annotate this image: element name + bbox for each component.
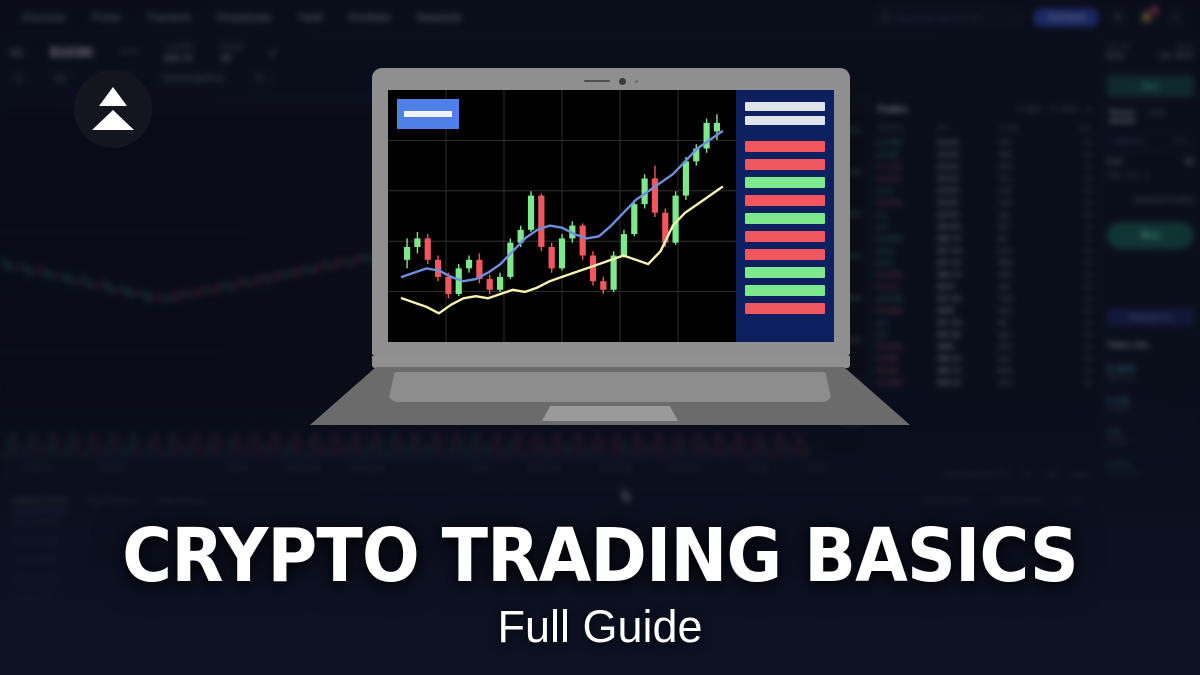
main-title: CRYPTO TRADING BASICS [48,520,1152,593]
trade-age: 2s [1050,306,1092,315]
orderbook-row-buy[interactable] [745,213,825,224]
youtube-thumbnail: Discover Pulse Trackers Perpetuals Yield… [0,0,1200,675]
instant-trade-toggle[interactable]: Instant Trade [923,496,970,505]
trade-trader: 3BG [998,258,1049,267]
orderbook-row-sell[interactable] [745,159,825,170]
sliders-icon[interactable]: ⇌ [1085,105,1092,114]
stat-liquidity: Liquidity$39.7K [164,42,193,63]
trade-trader: j9c [998,234,1049,243]
stat-supply-key: Supply [220,42,244,51]
trades-filter-you[interactable]: ⚇YOU [1050,105,1078,114]
stat-price: Price [120,47,138,58]
buys-value: 146 / $57K [1158,51,1194,60]
token-stat-top10-label: Top 10 H [1107,375,1194,382]
trades-table-toggle[interactable]: Trades Table [995,496,1041,505]
advanced-trading-toggle[interactable]: Advanced Trading [1107,195,1194,204]
token-stat-lp-label: LP Burned [1107,471,1194,478]
trade-mc: $55K [938,306,999,315]
token-symbol: MC [10,48,24,58]
trade-age: 0s [1050,138,1092,147]
speaker-slot-icon [584,80,610,82]
trade-age: 2s [1050,270,1092,279]
trade-trader: C51 [998,198,1049,207]
stat-liquidity-value: $39.7K [164,53,193,63]
app-top-nav: Discover Pulse Trackers Perpetuals Yield… [0,0,1200,36]
trade-age: 0s [1050,150,1092,159]
trade-trader: u55 [998,270,1049,279]
token-stat-snipers-label: Snipers [1107,439,1194,446]
submit-buy-button[interactable]: Buy [1107,222,1194,249]
trade-trader: c6V [998,138,1049,147]
chart-timestamp: 14:57:05 (UTC-5) [944,470,1006,479]
trade-age: 0s [1050,186,1092,195]
chip-ds[interactable]: DS [46,71,73,86]
trade-mc: $52.5K [938,330,999,339]
vol-label: 5m Vol [1107,42,1130,51]
trade-trader: hp4 [998,330,1049,339]
search-icon [881,13,890,22]
presets-button[interactable]: PRESETS [1107,309,1194,326]
orderbook-row-sell[interactable] [745,249,825,260]
token-stat-insiders-label: Insiders [1107,407,1194,414]
trade-mc: $102K [938,210,999,219]
sub-title: Full Guide [0,601,1200,653]
star-icon[interactable]: ★ [1108,8,1128,28]
order-type-limit[interactable]: Limit [1147,107,1165,122]
trade-age: 0s [1050,210,1092,219]
tab-top-traders[interactable]: Top Traders [89,496,137,513]
pyramid-icon [84,85,142,133]
trade-age: 2s [1050,258,1092,267]
trade-age: 1s [1050,318,1092,327]
mouse-cursor-icon [622,488,635,506]
orderbook-row-sell[interactable] [745,231,825,242]
vol-value: $16K [1107,51,1125,60]
search-placeholder: Search by token or CA... [895,13,1009,23]
trade-age: 3s [1050,342,1092,351]
laptop-keyboard [388,372,832,402]
trade-mc: $66.7K [938,270,999,279]
trade-mc: $27.2K [938,258,999,267]
trades-filter-dev-label: DEV [1025,105,1041,114]
trade-trader: D42 [998,306,1049,315]
trade-trader: aL8 [998,246,1049,255]
bell-icon[interactable]: 🔔 4 [1137,8,1157,28]
preset-percent-20[interactable]: 20% [1107,173,1121,181]
trade-mc: $68.7K [938,366,999,375]
orderbook-header-bar [745,116,825,125]
trade-mc: $68.3K [938,378,999,387]
trade-mc: $68.2K [938,354,999,363]
token-stat-lp-value: 0.0% [1107,460,1194,471]
orderbook-row-sell[interactable] [745,303,825,314]
token-stat-insiders: 0.0%Insiders [1107,396,1194,414]
trade-mc: $27.4K [938,294,999,303]
amount-unit: SOL [1173,137,1188,146]
trade-trader: U52 [998,162,1049,171]
trade-age: 1s [1050,294,1092,303]
pyramid-logo [74,70,152,148]
trade-age: 3s [1050,354,1092,363]
currency-toggle[interactable]: USD [1067,496,1084,505]
laptop-lid [372,68,850,356]
orderbook-row-buy[interactable] [745,177,825,188]
nav-item-pulse[interactable]: Pulse [92,12,121,24]
orderbook-panel [736,90,834,342]
trade-mc: $102K [938,198,999,207]
notification-badge: 4 [1150,6,1159,15]
token-price: $103K [50,44,94,61]
trade-trader: 4BE [998,150,1049,159]
trade-trader: z9o [998,282,1049,291]
trade-mc: $27.3K [938,318,999,327]
nav-links: Discover Pulse Trackers Perpetuals Yield… [22,12,462,24]
trade-trader: eC8 [998,378,1049,387]
amount-value: 0.01 [1107,157,1123,166]
search-shortcut: / [1014,13,1017,23]
amount-input[interactable]: AMOUNT SOL [1107,132,1194,151]
trade-trader: kv4 [998,354,1049,363]
camera-led-icon [635,80,638,83]
trade-mc: $102K [938,138,999,147]
user-icon: ⚇ [1050,105,1057,114]
col-age[interactable]: Age [1050,123,1092,132]
stat-supply-value: 1B [220,53,244,63]
trades-filter-you-label: YOU [1060,105,1077,114]
percent-toggle[interactable]: % [1023,470,1030,479]
orderbook-row-buy[interactable] [745,267,825,278]
trade-trader: 9j1 [998,318,1049,327]
trade-mc: $66K [938,342,999,351]
col-trader[interactable]: Trader [998,123,1049,132]
tab-holders[interactable]: Holders (376) [12,496,67,513]
laptop-trackpad [542,406,678,421]
nav-item-perpetuals[interactable]: Perpetuals [217,12,272,24]
nav-item-discover[interactable]: Discover [22,12,66,24]
laptop-illustration [310,60,910,430]
trade-age: 1s [1050,222,1092,231]
order-type-market[interactable]: Market [1109,107,1135,122]
trade-trader: CuF [998,186,1049,195]
laptop-bezel [372,77,850,85]
trade-mc: $67K [938,282,999,291]
trade-mc: $102K [938,150,999,159]
trade-mc: $66.7K [938,234,999,243]
nav-item-yield[interactable]: Yield [298,12,323,24]
trades-filter-dev[interactable]: ▽DEV [1016,105,1042,114]
trade-age: 3s [1050,330,1092,339]
laptop-hinge [372,356,850,368]
trade-age: 1s [1050,234,1092,243]
nav-item-trackers[interactable]: Trackers [147,12,191,24]
volume-row: 5m Vol Buys [1107,42,1194,51]
refresh-icon[interactable]: ⟳ [1145,173,1151,181]
nav-right-cluster: Search by token or CA... / Connect ★ 🔔 4… [874,7,1186,28]
wallet-icon[interactable]: ▭ [1166,8,1186,28]
chip-timeframe[interactable]: 1s [6,71,30,86]
trade-mc: $64.6K [938,222,999,231]
nav-item-portfolio[interactable]: Portfolio [349,12,391,24]
trade-age: 0s [1050,174,1092,183]
trade-trader: Sc7 [998,222,1049,231]
stat-price-key: Price [120,47,138,56]
chip-mcap-price[interactable]: MarketCap/Price [156,71,232,86]
camera-icon [619,78,626,85]
token-stat-insiders-value: 0.0% [1107,396,1194,407]
trade-trader: T1y [998,174,1049,183]
trade-mc: $102K [938,186,999,195]
trade-age: 3s [1050,378,1092,387]
laptop-screen [388,90,834,342]
trade-mc: $101K [938,174,999,183]
trade-age: 3s [1050,366,1092,375]
stat-liquidity-key: Liquidity [164,42,193,51]
auto-toggle[interactable]: auto [1072,470,1088,479]
chart-label-badge [397,99,459,129]
orderbook-row-sell[interactable] [745,141,825,152]
orderbook-row-buy[interactable] [745,285,825,296]
log-toggle[interactable]: log [1046,470,1057,479]
trade-trader: uPY [998,342,1049,351]
trading-chart [388,90,736,342]
trade-mc: $101K [938,162,999,171]
trade-trader: BeS [998,366,1049,375]
trade-age: 1s [1050,162,1092,171]
title-block: CRYPTO TRADING BASICS Full Guide [0,520,1200,653]
trade-age: 2s [1050,246,1092,255]
amount-label: AMOUNT [1113,137,1146,146]
stat-supply: Supply1B [220,42,244,63]
orderbook-header-bar [745,102,825,111]
chart-bottom-bar: 14:57:05 (UTC-5) % log auto [0,461,1100,487]
token-info-title: Token Info [1107,340,1194,350]
trade-age: 0s [1050,198,1092,207]
buys-label: Buys [1177,42,1194,51]
connect-button[interactable]: Connect [1033,8,1099,27]
trade-age: 2s [1050,282,1092,291]
token-stat-top10: 0.40%Top 10 H [1107,364,1194,382]
chip-fx[interactable]: Fx [248,71,273,86]
token-stat-snipers-value: 1% [1107,428,1194,439]
trade-trader: Vw4 [998,294,1049,303]
volume-values: $16K 146 / $57K [1107,51,1194,60]
preset-amount-001[interactable]: 0.01 [1126,173,1140,181]
trade-mc: $27.2K [938,246,999,255]
tab-dev-tokens[interactable]: Dev Tokens [158,496,205,513]
stat-holders-value: 1 [270,48,275,58]
search-input[interactable]: Search by token or CA... / [874,7,1024,28]
token-stat-top10-value: 0.40% [1107,364,1194,375]
trade-trader: cgL [998,210,1049,219]
token-stat-snipers: 1%Snipers [1107,428,1194,446]
token-stat-lp: 0.0%LP Burned [1107,460,1194,478]
buy-tab-button[interactable]: Buy [1107,75,1194,97]
amount-usd: $0 [1185,157,1194,166]
filter-icon: ▽ [1016,105,1022,114]
nav-item-rewards[interactable]: Rewards [417,12,462,24]
stat-holders: 1 [270,48,275,58]
orderbook-row-sell[interactable] [745,195,825,206]
col-mc[interactable]: MC [938,123,999,132]
